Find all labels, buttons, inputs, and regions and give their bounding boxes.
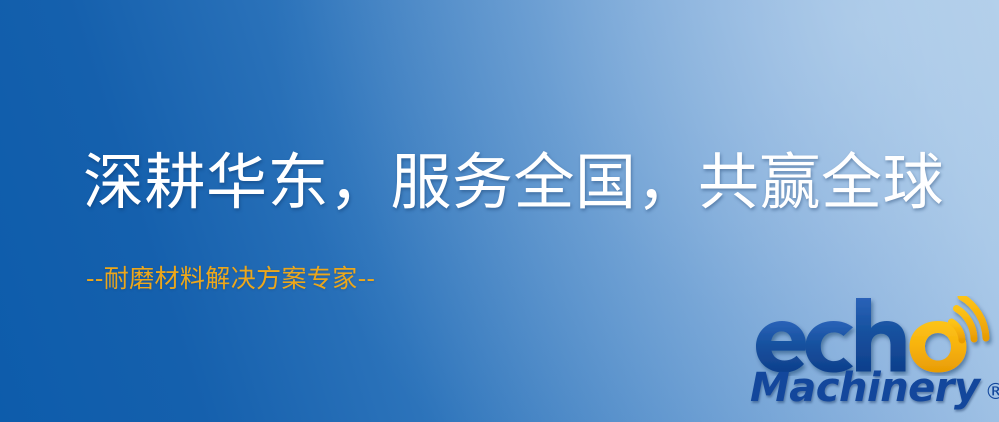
company-logo: Machinery ® bbox=[748, 296, 999, 422]
banner-content: 深耕华东，服务全国，共赢全球 --耐磨材料解决方案专家-- bbox=[0, 0, 999, 422]
logo-wordmark: Machinery ® bbox=[750, 368, 999, 408]
logo-letter-h bbox=[856, 298, 906, 372]
banner-headline: 深耕华东，服务全国，共赢全球 bbox=[83, 152, 944, 214]
logo-machinery-text: Machinery bbox=[750, 368, 980, 408]
registered-trademark-icon: ® bbox=[985, 382, 999, 408]
promo-banner: 深耕华东，服务全国，共赢全球 --耐磨材料解决方案专家-- bbox=[0, 0, 999, 422]
banner-subtitle: --耐磨材料解决方案专家-- bbox=[86, 265, 375, 293]
echo-logotype-icon bbox=[748, 296, 999, 376]
